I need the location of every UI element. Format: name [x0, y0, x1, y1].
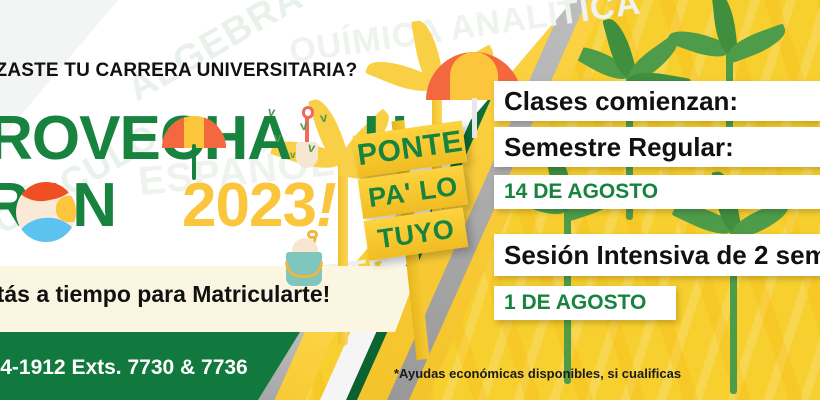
beach-ball-icon	[16, 182, 76, 242]
headline-1-part-a: APROV	[0, 104, 119, 173]
sand-shovel-icon	[293, 106, 321, 172]
info-box-label: Sesión Intensiva de 2 semanas	[504, 240, 820, 271]
info-box-date: 14 DE AGOSTO	[504, 180, 658, 204]
info-box-label: Clases comienzan:	[504, 86, 738, 117]
summer-enrollment-banner: ÁLGEBRAQUÍMICA ANALÍTICACÁLCULOESPAÑOLAR…	[0, 0, 820, 400]
beach-umbrella-icon	[162, 108, 226, 180]
info-box-sesion-intensiva: Sesión Intensiva de 2 semanas	[494, 234, 820, 276]
info-box-date: 1 DE AGOSTO	[504, 291, 646, 315]
info-box-fecha-intensiva: 1 DE AGOSTO	[494, 286, 676, 320]
kicker-question: ¿COMENZASTE TU CARRERA UNIVERSITARIA?	[0, 60, 357, 82]
flying-birds-icon: v	[299, 118, 308, 134]
disclaimer-text: *Ayudas económicas disponibles, si cuali…	[394, 366, 681, 381]
flying-birds-icon: v	[290, 150, 296, 161]
info-box-fecha-semestre: 14 DE AGOSTO	[494, 175, 820, 209]
headline-year: 2023	[182, 171, 316, 240]
info-box-clases-comienzan: Clases comienzan:	[494, 81, 820, 121]
headline-2-part-b: N	[72, 171, 116, 240]
subline-text: Aún estás a tiempo para Matricularte!	[0, 281, 330, 308]
flying-birds-icon: v	[274, 130, 281, 145]
phone-number: (787) 264-1912 Exts. 7730 & 7736	[0, 356, 248, 380]
info-box-label: Semestre Regular:	[504, 132, 734, 163]
info-box-semestre-regular: Semestre Regular:	[494, 127, 820, 167]
